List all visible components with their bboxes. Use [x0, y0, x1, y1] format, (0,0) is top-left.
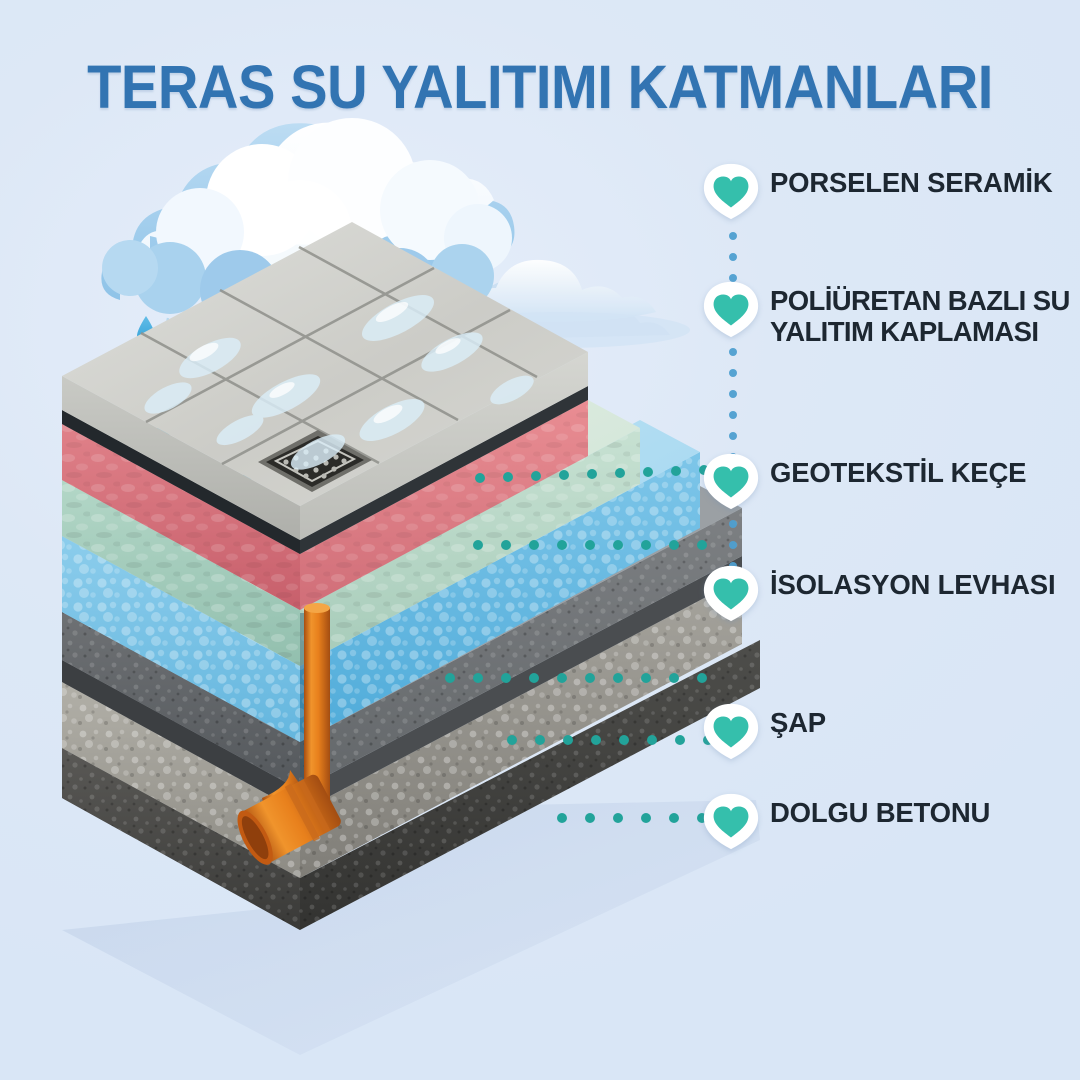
- heart-pin-icon: [700, 278, 762, 340]
- legend-item-geotekstil-kece[interactable]: GEOTEKSTİL KEÇE: [700, 450, 1026, 512]
- legend-item-label: ŞAP: [770, 700, 826, 739]
- infographic-canvas: TERAS SU YALITIMI KATMANLARI: [0, 0, 1080, 1080]
- legend-item-dolgu-betonu[interactable]: DOLGU BETONU: [700, 790, 990, 852]
- legend-list: PORSELEN SERAMİK POLİÜRETAN BAZLI SU YAL…: [700, 150, 1080, 870]
- legend-item-label: DOLGU BETONU: [770, 790, 990, 829]
- legend-item-label: İSOLASYON LEVHASI: [770, 562, 1055, 601]
- legend-item-poliuretan-kaplama[interactable]: POLİÜRETAN BAZLI SU YALITIM KAPLAMASI: [700, 278, 1070, 348]
- heart-pin-icon: [700, 450, 762, 512]
- legend-item-isolasyon-levhasi[interactable]: İSOLASYON LEVHASI: [700, 562, 1055, 624]
- heart-pin-icon: [700, 562, 762, 624]
- legend-item-label: PORSELEN SERAMİK: [770, 160, 1053, 199]
- heart-pin-icon: [700, 790, 762, 852]
- legend-item-label: POLİÜRETAN BAZLI SU YALITIM KAPLAMASI: [770, 278, 1070, 348]
- legend-item-sap[interactable]: ŞAP: [700, 700, 826, 762]
- heart-pin-icon: [700, 160, 762, 222]
- heart-pin-icon: [700, 700, 762, 762]
- legend-item-label: GEOTEKSTİL KEÇE: [770, 450, 1026, 489]
- legend-item-porselen-seramik[interactable]: PORSELEN SERAMİK: [700, 160, 1053, 222]
